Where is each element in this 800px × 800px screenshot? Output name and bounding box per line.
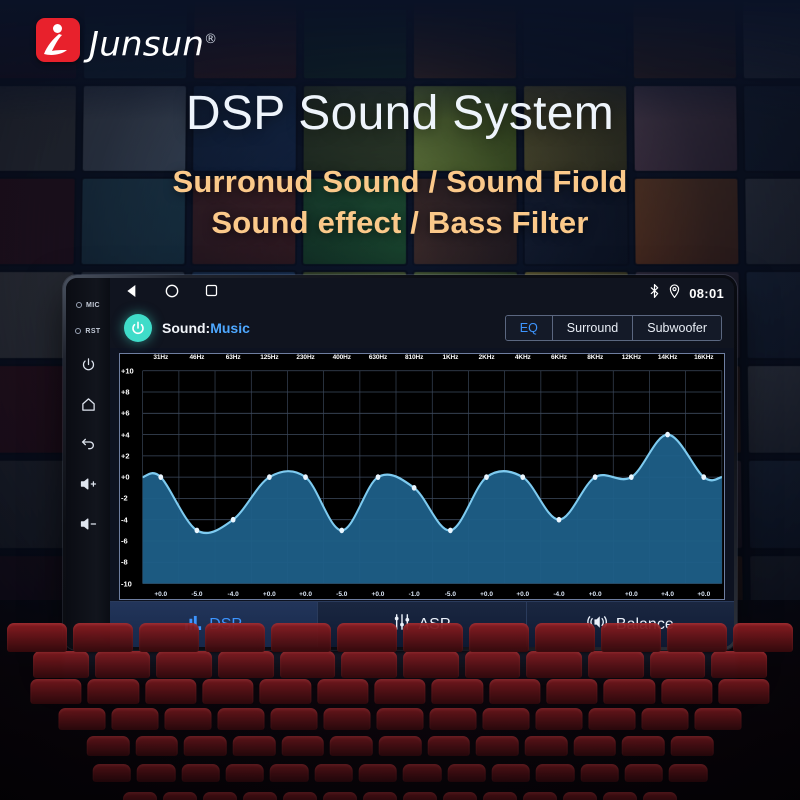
theater-seat (589, 708, 636, 731)
gain-value-label: -1.0 (396, 591, 432, 598)
location-pin-icon (669, 284, 680, 303)
reset-label: RST (85, 328, 100, 335)
gain-tick-label: +4 (121, 430, 130, 439)
theater-seat (661, 679, 712, 704)
theater-seat (323, 792, 357, 800)
power-toggle-icon[interactable] (124, 314, 152, 342)
theater-seat (337, 623, 397, 652)
theater-seat (492, 764, 530, 782)
frequency-label: 14KHz (649, 354, 685, 366)
theater-seat (525, 736, 568, 756)
theater-seat (523, 792, 557, 800)
theater-seat (218, 651, 274, 678)
theater-seat (202, 679, 253, 704)
gain-value-label: +0.0 (505, 591, 541, 598)
gain-tick-label: -2 (121, 494, 128, 503)
theater-seat (526, 651, 582, 678)
gain-value-row: +0.0-5.0-4.0+0.0+0.0-5.0+0.0-1.0-5.0+0.0… (143, 587, 722, 598)
frequency-label: 125Hz (251, 354, 287, 366)
theater-seat (281, 736, 324, 756)
theater-seat (7, 623, 67, 652)
theater-seat (483, 792, 517, 800)
theater-seat (379, 736, 422, 756)
power-icon[interactable] (81, 344, 96, 384)
seat-row (7, 623, 793, 652)
theater-seat (145, 679, 196, 704)
gain-tick-label: +0 (121, 473, 130, 482)
theater-seat (363, 792, 397, 800)
theater-seat (443, 792, 477, 800)
theater-seat (625, 764, 663, 782)
brand-logo: Junsun® (36, 18, 217, 66)
gain-tick-label: +8 (121, 388, 130, 397)
frequency-label: 16KHz (686, 354, 722, 366)
sound-label-prefix: Sound: (162, 320, 210, 336)
reset-indicator[interactable]: RST (75, 318, 100, 344)
back-icon[interactable] (80, 424, 96, 464)
theater-seat (205, 623, 265, 652)
sound-mode-bar: Sound:Music EQ Surround Subwoofer (110, 308, 734, 348)
nav-back-icon[interactable] (124, 283, 140, 304)
frequency-label: 2KHz (468, 354, 504, 366)
theater-seat (184, 736, 227, 756)
mic-indicator: MIC (76, 292, 100, 318)
theater-seat (260, 679, 311, 704)
frequency-label: 4KHz (505, 354, 541, 366)
theater-seat (271, 708, 318, 731)
theater-seat (95, 651, 151, 678)
theater-seat (163, 792, 197, 800)
theater-seat (588, 651, 644, 678)
theater-seat (87, 736, 130, 756)
theater-seat (667, 623, 727, 652)
sound-mode-group: EQ Surround Subwoofer (505, 315, 722, 341)
gain-tick-label: -6 (121, 536, 128, 545)
theater-seat (622, 736, 665, 756)
theater-seats (0, 600, 800, 800)
theater-seat (156, 651, 212, 678)
theater-seat (88, 679, 139, 704)
frequency-label: 63Hz (215, 354, 251, 366)
theater-seat (695, 708, 742, 731)
frequency-label: 810Hz (396, 354, 432, 366)
volume-up-icon[interactable] (80, 464, 97, 504)
gain-value-label: +0.0 (143, 591, 179, 598)
junsun-logo-icon (36, 18, 80, 62)
theater-seat (718, 679, 769, 704)
status-indicators: 08:01 (649, 284, 724, 303)
theater-seat (603, 792, 637, 800)
theater-seat (573, 736, 616, 756)
theater-seat (181, 764, 219, 782)
gain-axis: +10+8+6+4+2+0-2-4-6-8-10 (121, 354, 141, 599)
gain-tick-label: +10 (121, 366, 134, 375)
device-left-bezel: MIC RST (66, 278, 110, 647)
mic-label: MIC (86, 302, 100, 309)
theater-seat (483, 708, 530, 731)
theater-seat (427, 736, 470, 756)
home-icon[interactable] (81, 384, 96, 424)
gain-value-label: +0.0 (577, 591, 613, 598)
theater-seat (671, 736, 714, 756)
gain-value-label: +0.0 (613, 591, 649, 598)
theater-seat (403, 651, 459, 678)
theater-seat (135, 736, 178, 756)
gain-value-label: -5.0 (432, 591, 468, 598)
frequency-label: 31Hz (143, 354, 179, 366)
theater-seat (330, 736, 373, 756)
theater-seat (432, 679, 483, 704)
theater-seat (536, 708, 583, 731)
gain-value-label: +0.0 (360, 591, 396, 598)
volume-down-icon[interactable] (80, 504, 97, 544)
frequency-label: 630Hz (360, 354, 396, 366)
theater-seat (374, 679, 425, 704)
theater-seat (271, 623, 331, 652)
device-screen: 08:01 Sound:Music EQ Surround Subwoofer (110, 278, 734, 647)
poster-stage: Junsun® DSP Sound System Surronud Sound … (0, 0, 800, 800)
gain-tick-label: -8 (121, 558, 128, 567)
gain-tick-label: +2 (121, 451, 130, 460)
theater-seat (280, 651, 336, 678)
equalizer-curve (120, 354, 724, 599)
equalizer-chart[interactable]: 31Hz46Hz63Hz125Hz230Hz400Hz630Hz810Hz1KH… (119, 353, 725, 600)
theater-seat (580, 764, 618, 782)
theater-seat (536, 764, 574, 782)
theater-seat (59, 708, 106, 731)
theater-seat (314, 764, 352, 782)
theater-seat (165, 708, 212, 731)
theater-seat (243, 792, 277, 800)
gain-value-label: +0.0 (251, 591, 287, 598)
theater-seat (403, 792, 437, 800)
theater-seat (447, 764, 485, 782)
status-clock: 08:01 (689, 286, 724, 301)
frequency-label: 1KHz (432, 354, 468, 366)
logo-figure-icon (43, 34, 73, 56)
theater-seat (546, 679, 597, 704)
theater-seat (359, 764, 397, 782)
theater-seat (377, 708, 424, 731)
mic-dot-icon (76, 302, 82, 308)
brand-name: Junsun® (89, 18, 217, 66)
theater-seat (604, 679, 655, 704)
theater-seat (317, 679, 368, 704)
theater-seat (324, 708, 371, 731)
theater-seat (139, 623, 199, 652)
gain-value-label: -4.0 (541, 591, 577, 598)
gain-value-label: +4.0 (649, 591, 685, 598)
gain-value-label: -5.0 (324, 591, 360, 598)
theater-seat (341, 651, 397, 678)
android-status-bar: 08:01 (110, 278, 734, 308)
theater-seat (270, 764, 308, 782)
theater-seat (123, 792, 157, 800)
theater-seat (469, 623, 529, 652)
navigation-bar (124, 283, 219, 304)
brand-name-text: Junsun (89, 24, 204, 64)
theater-seat (465, 651, 521, 678)
theater-seat (137, 764, 175, 782)
gain-tick-label: -10 (121, 579, 132, 588)
theater-seat (489, 679, 540, 704)
theater-seat (403, 623, 463, 652)
gain-tick-label: +6 (121, 409, 130, 418)
bluetooth-icon (649, 284, 660, 303)
gain-tick-label: -4 (121, 515, 128, 524)
page-title: DSP Sound System (0, 86, 800, 141)
theater-seat (233, 736, 276, 756)
theater-seat (601, 623, 661, 652)
theater-seat (535, 623, 595, 652)
reset-dot-icon (75, 328, 81, 334)
frequency-label: 8KHz (577, 354, 613, 366)
gain-value-label: -4.0 (215, 591, 251, 598)
sound-label-value: Music (210, 320, 250, 336)
theater-seat (218, 708, 265, 731)
trademark-symbol: ® (204, 32, 217, 47)
subtitle-line-1: Surronud Sound / Sound Fiold (0, 164, 800, 200)
mode-button-subwoofer[interactable]: Subwoofer (633, 316, 721, 340)
theater-seat (563, 792, 597, 800)
frequency-label: 46Hz (179, 354, 215, 366)
theater-seat (430, 708, 477, 731)
nav-home-icon[interactable] (164, 283, 180, 304)
theater-seat (403, 764, 441, 782)
car-head-unit-device: MIC RST (63, 275, 737, 650)
sound-source-label: Sound:Music (162, 320, 250, 336)
mode-button-surround[interactable]: Surround (553, 316, 633, 340)
seat-row (59, 708, 742, 731)
subtitle-line-2: Sound effect / Bass Filter (0, 205, 800, 241)
seat-row (87, 736, 714, 756)
theater-seat (733, 623, 793, 652)
frequency-label: 400Hz (324, 354, 360, 366)
theater-seat (112, 708, 159, 731)
theater-seat (643, 792, 677, 800)
seat-row (123, 792, 677, 800)
seat-row (33, 651, 767, 678)
seat-row (30, 679, 769, 704)
frequency-label: 6KHz (541, 354, 577, 366)
theater-seat (33, 651, 89, 678)
mode-button-eq[interactable]: EQ (506, 316, 553, 340)
gain-value-label: +0.0 (686, 591, 722, 598)
theater-seat (669, 764, 707, 782)
theater-seat (30, 679, 81, 704)
theater-seat (711, 651, 767, 678)
seat-row (93, 764, 708, 782)
theater-seat (226, 764, 264, 782)
theater-seat (283, 792, 317, 800)
nav-recents-icon[interactable] (204, 283, 219, 303)
theater-seat (73, 623, 133, 652)
theater-seat (476, 736, 519, 756)
theater-seat (650, 651, 706, 678)
frequency-label-row: 31Hz46Hz63Hz125Hz230Hz400Hz630Hz810Hz1KH… (143, 354, 722, 366)
theater-seat (642, 708, 689, 731)
theater-seat (203, 792, 237, 800)
theater-seat (93, 764, 131, 782)
gain-value-label: -5.0 (179, 591, 215, 598)
gain-value-label: +0.0 (468, 591, 504, 598)
gain-value-label: +0.0 (287, 591, 323, 598)
frequency-label: 12KHz (613, 354, 649, 366)
frequency-label: 230Hz (287, 354, 323, 366)
